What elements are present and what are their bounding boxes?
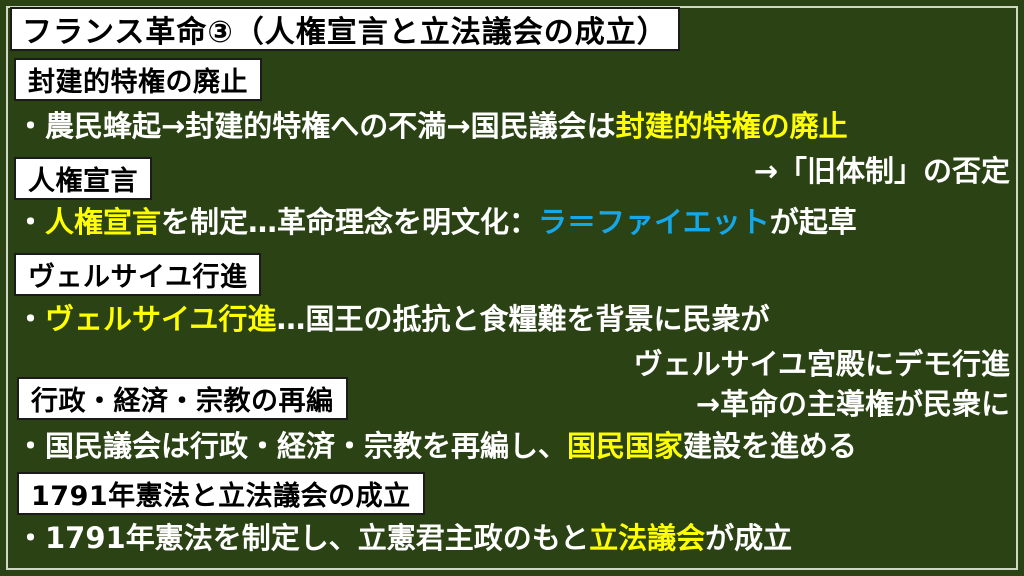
text-span: が起草 xyxy=(770,205,857,239)
highlight-span: 封建的特権の廃止 xyxy=(616,109,848,143)
text-span: が成立 xyxy=(705,521,792,555)
section-heading-5: 1791年憲法と立法議会の成立 xyxy=(17,472,425,515)
text-span: →革命の主導権が民衆に xyxy=(696,387,1010,421)
section-heading-4: 行政・経済・宗教の再編 xyxy=(17,377,348,420)
body-line-3-2: ヴェルサイユ宮殿にデモ行進 xyxy=(634,350,1010,379)
text-span: →「旧体制」の否定 xyxy=(754,154,1010,188)
text-span: 建設を進める xyxy=(683,429,857,463)
body-line-1-1: ・農民蜂起→封建的特権への不満→国民議会は封建的特権の廃止 xyxy=(16,112,848,141)
body-line-3-1: ・ヴェルサイユ行進…国王の抵抗と食糧難を背景に民衆が xyxy=(16,305,769,334)
text-span: ・ xyxy=(16,302,45,336)
section-heading-2: 人権宣言 xyxy=(14,157,152,200)
highlight-span: 人権宣言 xyxy=(45,205,161,239)
text-span: ・農民蜂起→封建的特権への不満→国民議会は xyxy=(16,109,616,143)
body-line-1-2: →「旧体制」の否定 xyxy=(754,157,1010,186)
highlight-span: ヴェルサイユ行進 xyxy=(45,302,276,336)
body-line-2-1: ・人権宣言を制定…革命理念を明文化：ラ＝ファイエットが起草 xyxy=(16,208,857,237)
slide-title-box: フランス革命③（人権宣言と立法議会の成立） xyxy=(10,7,680,51)
text-span: ・国民議会は行政・経済・宗教を再編し、 xyxy=(16,429,567,463)
body-line-3-3: →革命の主導権が民衆に xyxy=(696,390,1010,419)
highlight-span: 国民国家 xyxy=(567,429,683,463)
text-span: ・ xyxy=(16,205,45,239)
section-heading-3: ヴェルサイユ行進 xyxy=(14,253,261,296)
text-span: ヴェルサイユ宮殿にデモ行進 xyxy=(634,347,1010,381)
accent-span: ラ＝ファイエット xyxy=(538,205,770,239)
section-heading-1: 封建的特権の廃止 xyxy=(14,58,262,101)
slide-canvas: フランス革命③（人権宣言と立法議会の成立） 封建的特権の廃止 ・農民蜂起→封建的… xyxy=(0,0,1024,576)
text-span: を制定…革命理念を明文化： xyxy=(161,205,538,239)
body-line-4-1: ・国民議会は行政・経済・宗教を再編し、国民国家建設を進める xyxy=(16,432,857,461)
text-span: ・1791年憲法を制定し、立憲君主政のもと xyxy=(16,521,589,555)
highlight-span: 立法議会 xyxy=(589,521,705,555)
body-line-5-1: ・1791年憲法を制定し、立憲君主政のもと立法議会が成立 xyxy=(16,524,792,553)
text-span: …国王の抵抗と食糧難を背景に民衆が xyxy=(276,302,769,336)
